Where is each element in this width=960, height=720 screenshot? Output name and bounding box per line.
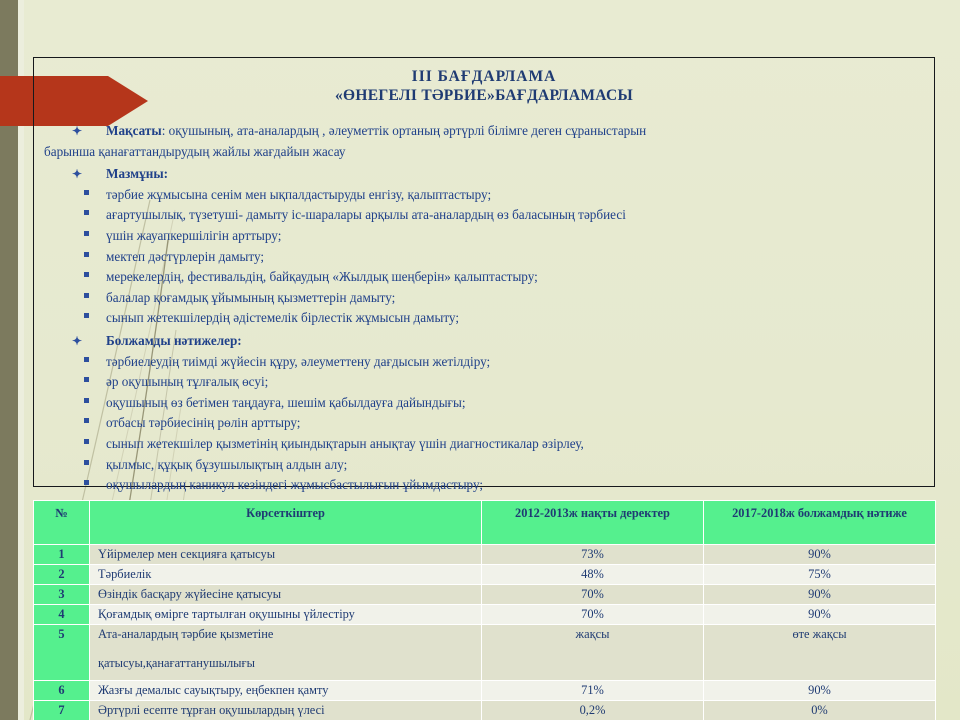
cell-indicator: Ата-аналардың тәрбие қызметіне қатысуы,қ… [90,625,482,681]
cell-number: 3 [34,585,90,605]
cell-actual: 70% [482,605,704,625]
list-item-label: мерекелердің, фестивальдің, байқаудың «Ж… [106,269,538,284]
list-item: тәрбиелеудің тиімді жүйесін құру, әлеуме… [44,352,920,373]
square-bullet-icon [84,357,89,362]
list-item-label: әр оқушының тұлғалық өсуі; [106,374,268,389]
list-item: тәрбие жұмысына сенім мен ықпалдастыруды… [44,185,920,206]
square-bullet-icon [84,313,89,318]
cell-indicator: Үйірмелер мен секцияға қатысуы [90,545,482,565]
list-item: оқушының өз бетімен таңдауға, шешім қабы… [44,393,920,414]
list-item-label: қылмыс, құқық бұзушылықтың алдын алу; [106,457,347,472]
list-item-label: тәрбиелеудің тиімді жүйесін құру, әлеуме… [106,354,490,369]
list-item: балалар қоғамдық ұйымының қызметтерін да… [44,288,920,309]
list-item: отбасы тәрбиесінің рөлін арттыру; [44,413,920,434]
cell-number: 1 [34,545,90,565]
cell-indicator-line2: қатысуы,қанағаттанушылығы [98,656,477,671]
cell-indicator: Жазғы демалыс сауықтыру, еңбекпен қамту [90,681,482,701]
section-heading-goal: ✦ Мақсаты: оқушының, ата-аналардың , әле… [44,121,920,142]
table-row: 5 Ата-аналардың тәрбие қызметіне қатысуы… [34,625,936,681]
section-results-lead: Болжамды нәтижелер: [106,333,242,348]
cell-forecast: 75% [704,565,936,585]
column-header-forecast: 2017-2018ж болжамдық нәтиже [704,501,936,545]
list-item-label: оқушылардың каникул кезіндегі жұмысбасты… [106,477,483,492]
table-row: 2 Тәрбиелік 48% 75% [34,565,936,585]
section-goal-wrap: барынша қанағаттандырудың жайлы жағдайын… [44,142,920,163]
cell-actual: 48% [482,565,704,585]
list-item-label: мектеп дәстүрлерін дамыту; [106,249,264,264]
content-box: III БАҒДАРЛАМА «ӨНЕГЕЛІ ТӘРБИЕ»БАҒДАРЛАМ… [33,57,935,487]
cell-actual: 73% [482,545,704,565]
cell-forecast: өте жақсы [704,625,936,681]
cell-forecast: 90% [704,605,936,625]
square-bullet-icon [84,480,89,485]
column-header-actual: 2012-2013ж нақты деректер [482,501,704,545]
table-row: 4 Қоғамдық өмірге тартылған оқушыны үйле… [34,605,936,625]
cell-forecast: 0% [704,701,936,720]
cell-number: 5 [34,625,90,681]
section-heading-results: ✦ Болжамды нәтижелер: [44,331,920,352]
cell-indicator: Өзіндік басқару жүйесіне қатысуы [90,585,482,605]
list-item: оқушылардың каникул кезіндегі жұмысбасты… [44,475,920,496]
list-item-label: сынып жетекшілер қызметінің қиындықтарын… [106,436,584,451]
cell-indicator-line1: Ата-аналардың тәрбие қызметіне [98,627,273,641]
table-row: 7 Әртүрлі есепте тұрған оқушылардың үлес… [34,701,936,720]
column-header-indicator: Көрсеткіштер [90,501,482,545]
square-bullet-icon [84,377,89,382]
list-item: үшін жауапкершілігін арттыру; [44,226,920,247]
cell-indicator: Әртүрлі есепте тұрған оқушылардың үлесі [90,701,482,720]
cell-number: 6 [34,681,90,701]
list-item-label: тәрбие жұмысына сенім мен ықпалдастыруды… [106,187,491,202]
list-item: сынып жетекшілер қызметінің қиындықтарын… [44,434,920,455]
list-item-label: балалар қоғамдық ұйымының қызметтерін да… [106,290,395,305]
cell-number: 4 [34,605,90,625]
cell-actual: 70% [482,585,704,605]
square-bullet-icon [84,398,89,403]
square-bullet-icon [84,460,89,465]
page-title: III БАҒДАРЛАМА «ӨНЕГЕЛІ ТӘРБИЕ»БАҒДАРЛАМ… [34,67,934,105]
list-item: ағартушылық, түзетуші- дамыту іс-шаралар… [44,205,920,226]
list-item: мектеп дәстүрлерін дамыту; [44,247,920,268]
column-header-number: № [34,501,90,545]
list-item-label: ағартушылық, түзетуші- дамыту іс-шаралар… [106,207,626,222]
table-row: 6 Жазғы демалыс сауықтыру, еңбекпен қамт… [34,681,936,701]
table-row: 1 Үйірмелер мен секцияға қатысуы 73% 90% [34,545,936,565]
cell-actual: 71% [482,681,704,701]
title-line-1: III БАҒДАРЛАМА [34,67,934,86]
square-bullet-icon [84,231,89,236]
cell-forecast: 90% [704,545,936,565]
list-item: мерекелердің, фестивальдің, байқаудың «Ж… [44,267,920,288]
kpi-table: № Көрсеткіштер 2012-2013ж нақты деректер… [33,500,936,720]
table-row: 3 Өзіндік басқару жүйесіне қатысуы 70% 9… [34,585,936,605]
body-text: ✦ Мақсаты: оқушының, ата-аналардың , әле… [34,121,934,496]
table-body: 1 Үйірмелер мен секцияға қатысуы 73% 90%… [34,545,936,720]
diamond-bullet-icon: ✦ [72,331,82,352]
list-item-label: отбасы тәрбиесінің рөлін арттыру; [106,415,300,430]
square-bullet-icon [84,418,89,423]
cell-number: 2 [34,565,90,585]
diamond-bullet-icon: ✦ [72,164,82,185]
list-item-label: үшін жауапкершілігін арттыру; [106,228,281,243]
section-goal-lead: Мақсаты [106,123,162,138]
cell-actual: 0,2% [482,701,704,720]
square-bullet-icon [84,293,89,298]
section-goal-rest: : оқушының, ата-аналардың , әлеуметтік о… [162,123,647,138]
cell-forecast: 90% [704,585,936,605]
cell-indicator: Тәрбиелік [90,565,482,585]
table-header-row: № Көрсеткіштер 2012-2013ж нақты деректер… [34,501,936,545]
list-item-label: сынып жетекшілердің әдістемелік бірлесті… [106,310,459,325]
section-heading-content: ✦ Мазмұны: [44,164,920,185]
list-item-label: оқушының өз бетімен таңдауға, шешім қабы… [106,395,466,410]
square-bullet-icon [84,210,89,215]
square-bullet-icon [84,252,89,257]
list-item: сынып жетекшілердің әдістемелік бірлесті… [44,308,920,329]
list-item: әр оқушының тұлғалық өсуі; [44,372,920,393]
diamond-bullet-icon: ✦ [72,121,82,142]
square-bullet-icon [84,190,89,195]
cell-indicator: Қоғамдық өмірге тартылған оқушыны үйлест… [90,605,482,625]
square-bullet-icon [84,272,89,277]
cell-forecast: 90% [704,681,936,701]
cell-actual: жақсы [482,625,704,681]
title-line-2: «ӨНЕГЕЛІ ТӘРБИЕ»БАҒДАРЛАМАСЫ [34,86,934,105]
square-bullet-icon [84,439,89,444]
cell-number: 7 [34,701,90,720]
list-item: қылмыс, құқық бұзушылықтың алдын алу; [44,455,920,476]
section-content-lead: Мазмұны: [106,166,168,181]
